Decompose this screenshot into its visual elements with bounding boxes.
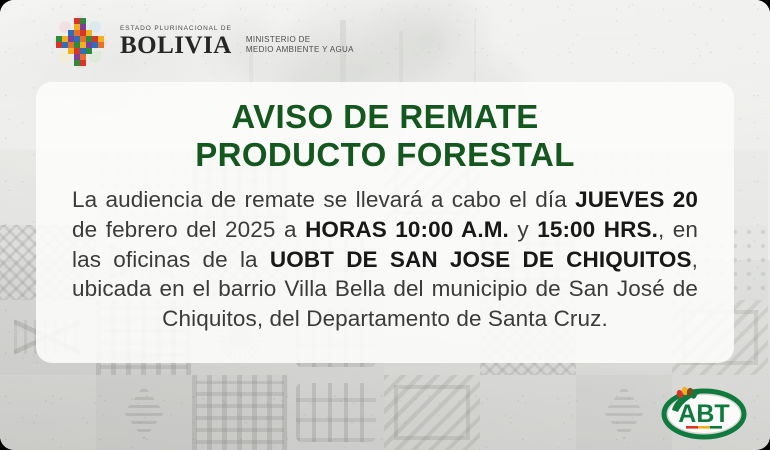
body-emphasis: HORAS 10:00 A.M. bbox=[305, 217, 509, 242]
wiphala-cross-icon bbox=[52, 14, 108, 70]
body-emphasis: UOBT DE SAN JOSE DE CHIQUITOS bbox=[270, 247, 692, 272]
abt-wordmark-text: ABT bbox=[678, 400, 729, 428]
state-name-text: BOLIVIA bbox=[120, 34, 232, 58]
body-emphasis: 15:00 HRS. bbox=[537, 217, 658, 242]
page-title: AVISO DE REMATE PRODUCTO FORESTAL bbox=[62, 98, 708, 173]
ministry-name-block: MINISTERIO DE MEDIO AMBIENTE Y AGUA bbox=[246, 35, 354, 57]
body-text-run: de febrero del 2025 a bbox=[72, 217, 305, 242]
title-line-1: AVISO DE REMATE bbox=[62, 98, 708, 136]
government-wordmark: ESTADO PLURINACIONAL DE BOLIVIA MINISTER… bbox=[120, 26, 354, 57]
state-name-block: ESTADO PLURINACIONAL DE BOLIVIA bbox=[120, 26, 232, 57]
ministry-line-2: MEDIO AMBIENTE Y AGUA bbox=[246, 45, 354, 55]
title-line-2: PRODUCTO FORESTAL bbox=[62, 136, 708, 174]
notice-body-text: La audiencia de remate se llevará a cabo… bbox=[62, 185, 708, 333]
body-emphasis: JUEVES 20 bbox=[575, 187, 698, 212]
government-header: ESTADO PLURINACIONAL DE BOLIVIA MINISTER… bbox=[52, 14, 354, 70]
abt-oval-leaf-icon: ABT bbox=[656, 380, 752, 442]
body-text-run: La audiencia de remate se llevará a cabo… bbox=[72, 187, 575, 212]
auction-notice-poster: ESTADO PLURINACIONAL DE BOLIVIA MINISTER… bbox=[0, 0, 770, 450]
ministry-line-1: MINISTERIO DE bbox=[246, 35, 354, 45]
notice-card: AVISO DE REMATE PRODUCTO FORESTAL La aud… bbox=[36, 82, 734, 363]
body-text-run: y bbox=[509, 217, 537, 242]
